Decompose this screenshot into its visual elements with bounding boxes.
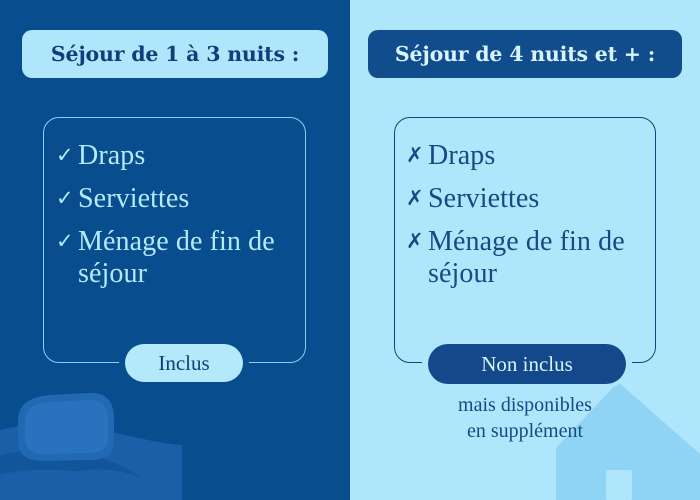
cross-icon: ✗: [406, 140, 428, 170]
cross-icon: ✗: [406, 183, 428, 213]
header-badge-long-stay: Séjour de 4 nuits et + :: [368, 30, 682, 78]
status-badge-not-included: Non inclus: [428, 344, 626, 384]
status-badge-label: Inclus: [158, 351, 209, 376]
supplement-note-line-1: mais disponibles: [350, 392, 700, 418]
comparison-infographic: Séjour de 1 à 3 nuits : ✓ Draps ✓ Servie…: [0, 0, 700, 500]
list-item-label: Draps: [78, 140, 145, 172]
supplement-note: mais disponibles en supplément: [350, 392, 700, 444]
list-item-label: Serviettes: [78, 183, 189, 215]
list-item: ✓ Serviettes: [56, 183, 326, 215]
list-item: ✓ Draps: [56, 140, 326, 172]
bedding-illustration: [0, 375, 182, 500]
status-badge-label: Non inclus: [481, 352, 573, 377]
list-item: ✗ Serviettes: [406, 183, 676, 215]
inclusions-list-short-stay: ✓ Draps ✓ Serviettes ✓ Ménage de fin de …: [56, 140, 326, 301]
check-icon: ✓: [56, 226, 78, 256]
supplement-note-line-2: en supplément: [350, 418, 700, 444]
check-icon: ✓: [56, 140, 78, 170]
list-item: ✗ Ménage de fin de séjour: [406, 226, 676, 290]
cross-icon: ✗: [406, 226, 428, 256]
check-icon: ✓: [56, 183, 78, 213]
header-title-long-stay: Séjour de 4 nuits et + :: [395, 42, 655, 66]
status-badge-included: Inclus: [125, 344, 243, 382]
exclusions-list-long-stay: ✗ Draps ✗ Serviettes ✗ Ménage de fin de …: [406, 140, 676, 301]
list-item-label: Ménage de fin de séjour: [78, 226, 326, 290]
header-title-short-stay: Séjour de 1 à 3 nuits :: [51, 42, 299, 66]
list-item-label: Draps: [428, 140, 495, 172]
header-badge-short-stay: Séjour de 1 à 3 nuits :: [22, 30, 328, 78]
list-item: ✗ Draps: [406, 140, 676, 172]
list-item-label: Ménage de fin de séjour: [428, 226, 676, 290]
panel-short-stay: Séjour de 1 à 3 nuits : ✓ Draps ✓ Servie…: [0, 0, 350, 500]
list-item: ✓ Ménage de fin de séjour: [56, 226, 326, 290]
list-item-label: Serviettes: [428, 183, 539, 215]
panel-long-stay: Séjour de 4 nuits et + : ✗ Draps ✗ Servi…: [350, 0, 700, 500]
